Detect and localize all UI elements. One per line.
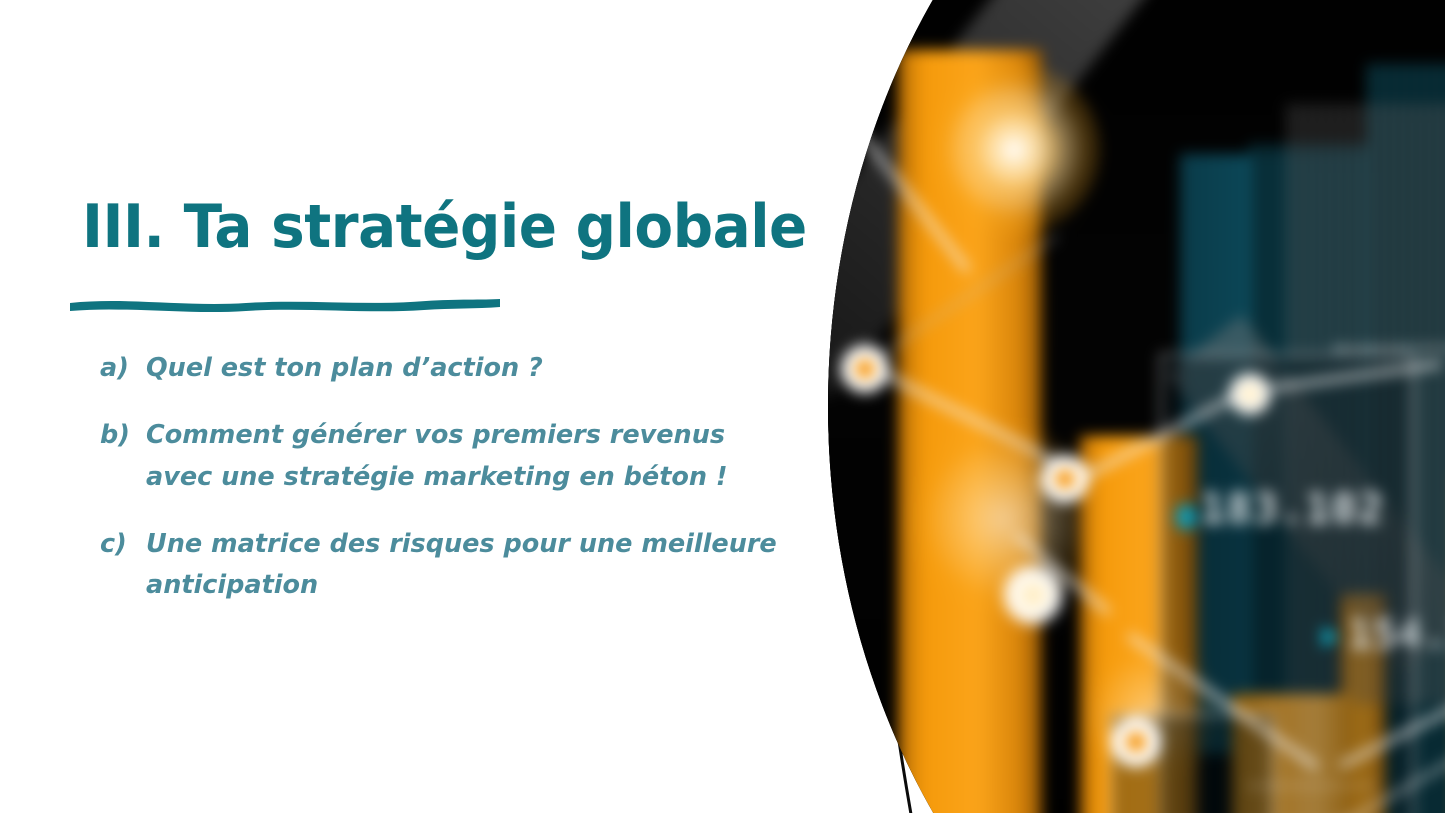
slide: III. Ta stratégie globale a) Quel est to… [0,0,1445,813]
photo-blur-group: 183.102 154.178 33 [820,0,1445,813]
cyan-dot-marker [1175,502,1197,532]
list-item-label: Une matrice des risques pour une meilleu… [146,524,800,607]
title-underline-brushstroke [66,286,506,316]
photo-content: 183.102 154.178 33 [820,0,1445,813]
list-item: a) Quel est ton plan d’action ? [100,348,800,389]
cyan-triangle-marker [1322,626,1339,648]
list-item-marker: b) [100,415,146,456]
readout-value-2: 154.178 [1348,612,1445,658]
dotted-tick-row-2 [1250,784,1380,788]
list-item: b) Comment générer vos premiers revenus … [100,415,800,498]
data-point-node-5 [1110,716,1162,768]
readout-value-1: 183.102 [1200,484,1384,533]
list-item-marker: c) [100,524,146,565]
data-point-node-4 [1002,564,1064,626]
financial-dashboard-photo: 183.102 154.178 33 [820,0,1445,813]
data-point-node-6 [968,104,1060,196]
dotted-tick-row [1336,346,1445,351]
list-item: c) Une matrice des risques pour une meil… [100,524,800,607]
text-column: III. Ta stratégie globale a) Quel est to… [0,0,840,813]
bullet-list: a) Quel est ton plan d’action ? b) Comme… [100,348,800,632]
data-point-node-2 [1040,454,1090,504]
page-title: III. Ta stratégie globale [82,196,778,259]
list-item-marker: a) [100,348,146,389]
list-item-label: Comment générer vos premiers revenus ave… [146,415,800,498]
list-item-label: Quel est ton plan d’action ? [146,348,800,389]
data-point-node-1 [840,344,890,394]
data-point-node-3 [1228,372,1272,416]
